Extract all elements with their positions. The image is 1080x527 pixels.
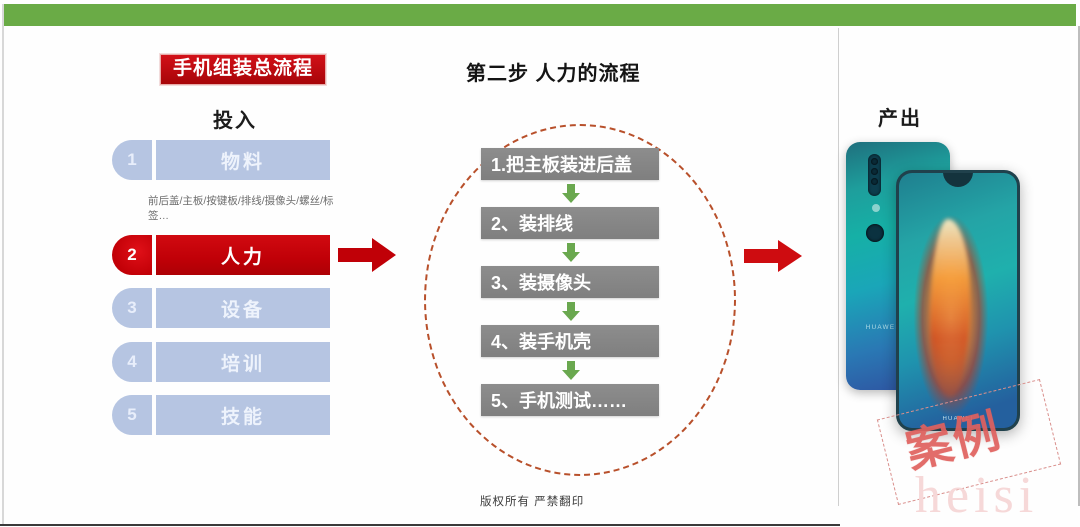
- process-step-2[interactable]: 2、装排线: [481, 207, 659, 239]
- camera-lens-icon-1: [871, 158, 878, 165]
- row-label: 设备: [156, 288, 330, 328]
- copyright-note: 版权所有 严禁翻印: [480, 493, 584, 509]
- down-arrow-icon-2: [562, 243, 580, 267]
- watermark-label: heisi: [915, 470, 1038, 522]
- step-label: 2、装排线: [491, 210, 573, 236]
- down-arrow-icon-3: [562, 302, 580, 326]
- step-label: 5、手机测试……: [491, 387, 627, 413]
- output-column-label: 产出: [878, 102, 922, 131]
- list-item-manpower[interactable]: 2 人力: [112, 235, 330, 275]
- row-label: 物料: [156, 140, 330, 180]
- material-detail-note: 前后盖/主板/按键板/排线/摄像头/螺丝/标签…: [148, 194, 334, 224]
- list-item-equipment[interactable]: 3 设备: [112, 288, 330, 328]
- top-green-bar: [4, 4, 1076, 26]
- row-label: 培训: [156, 342, 330, 382]
- output-product-image: HUAWEI HUAWEI: [838, 140, 1034, 425]
- left-border: [2, 4, 4, 524]
- device-brand-label: HUAWEI: [866, 324, 899, 330]
- process-step-4[interactable]: 4、装手机壳: [481, 325, 659, 357]
- step-label: 4、装手机壳: [491, 328, 591, 354]
- process-step-3[interactable]: 3、装摄像头: [481, 266, 659, 298]
- row-number-badge: 3: [112, 288, 152, 328]
- row-number-badge: 4: [112, 342, 152, 382]
- step-label: 1.把主板装进后盖: [491, 151, 632, 177]
- row-label: 人力: [156, 235, 330, 275]
- camera-lens-icon-2: [871, 168, 878, 175]
- row-number-badge: 5: [112, 395, 152, 435]
- process-step-5[interactable]: 5、手机测试……: [481, 384, 659, 416]
- slide-canvas: 手机组装总流程 投入 第二步 人力的流程 产出 1 物料 前后盖/主板/按键板/…: [0, 0, 1080, 527]
- wallpaper-flame-shape: [930, 219, 970, 398]
- step-label: 3、装摄像头: [491, 269, 591, 295]
- list-item-skill[interactable]: 5 技能: [112, 395, 330, 435]
- row-number-badge: 1: [112, 140, 152, 180]
- list-item-training[interactable]: 4 培训: [112, 342, 330, 382]
- camera-lens-icon-4: [866, 224, 884, 242]
- row-label: 技能: [156, 395, 330, 435]
- page-title: 手机组装总流程: [160, 54, 326, 85]
- camera-lens-icon-3: [871, 178, 878, 185]
- process-step-1[interactable]: 1.把主板装进后盖: [481, 148, 659, 180]
- row-number-badge: 2: [112, 235, 152, 275]
- down-arrow-icon-4: [562, 361, 580, 385]
- bottom-border: [0, 524, 840, 526]
- down-arrow-icon-1: [562, 184, 580, 208]
- list-item-material[interactable]: 1 物料: [112, 140, 330, 180]
- center-section-title: 第二步 人力的流程: [466, 57, 641, 86]
- flash-icon: [872, 204, 880, 212]
- red-arrow-right-icon-2: [744, 240, 802, 272]
- input-column-label: 投入: [213, 104, 257, 133]
- red-arrow-right-icon: [338, 238, 396, 272]
